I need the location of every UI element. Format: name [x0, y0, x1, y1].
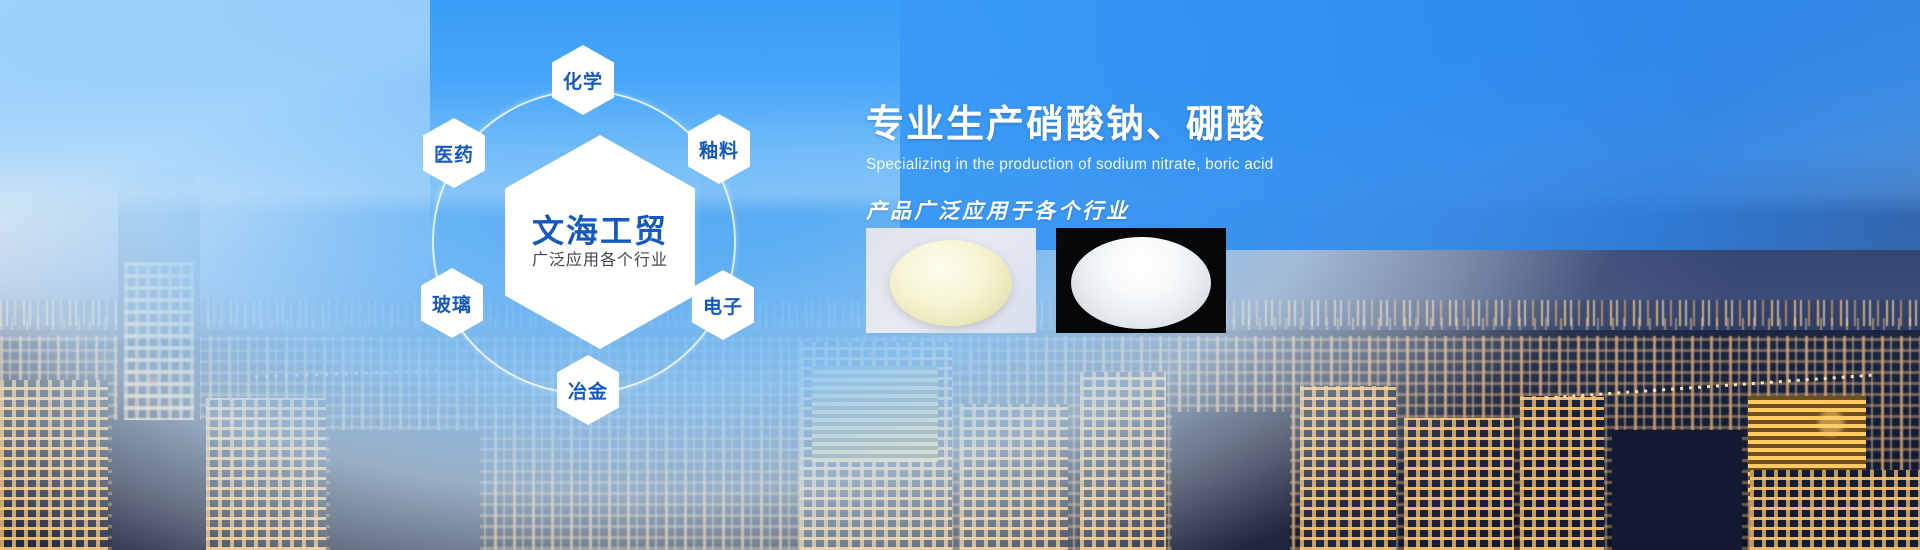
- beacon-light: [868, 352, 875, 359]
- brand-name: 文海工贸: [532, 215, 668, 247]
- hex-label: 玻璃: [432, 290, 472, 317]
- powder-grain-texture: [890, 240, 1012, 326]
- brand-subtitle: 广泛应用各个行业: [532, 253, 668, 269]
- hex-label: 冶金: [568, 377, 608, 404]
- beacon-light: [150, 378, 156, 384]
- product-photo-sodium-nitrate: [866, 228, 1036, 333]
- beacon-light: [906, 356, 912, 362]
- subheadline: Specializing in the production of sodium…: [866, 156, 1506, 174]
- tagline: 产品广泛应用于各个行业: [866, 195, 1506, 225]
- building-block: [1612, 430, 1742, 550]
- building-block: [330, 430, 480, 550]
- building-block: [1520, 396, 1604, 550]
- powder-grain-texture: [1071, 237, 1211, 329]
- building-block: [1300, 386, 1396, 550]
- hex-label: 化学: [563, 67, 603, 94]
- building-block: [1750, 470, 1920, 550]
- building-block: [206, 398, 326, 550]
- building-block: [1080, 372, 1166, 550]
- headline: 专业生产硝酸钠、硼酸: [866, 104, 1506, 147]
- building-block: [1404, 418, 1514, 550]
- building-block: [112, 420, 208, 550]
- building-block: [0, 380, 108, 550]
- product-photo-boric-acid: [1056, 228, 1226, 333]
- building-glow: [1818, 410, 1844, 436]
- building-block: [960, 404, 1068, 550]
- promo-banner: 化学 釉料 电子 冶金 玻璃 医药 文海工贸 广泛应用各个行业 专业生产硝酸钠、…: [0, 0, 1920, 550]
- hex-label: 釉料: [699, 136, 739, 163]
- lit-facade: [812, 366, 938, 462]
- hex-label: 医药: [434, 140, 474, 167]
- product-photo-row: [866, 228, 1226, 333]
- building-block: [1172, 412, 1290, 550]
- hex-label: 电子: [703, 292, 743, 319]
- copy-block: 专业生产硝酸钠、硼酸 Specializing in the productio…: [866, 104, 1506, 225]
